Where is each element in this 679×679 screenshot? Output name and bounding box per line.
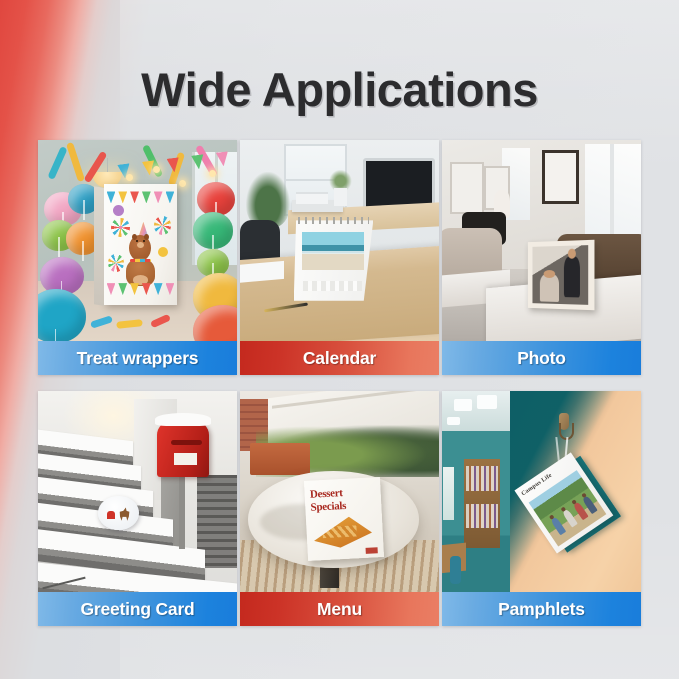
library-window (443, 467, 454, 519)
page-title: Wide Applications (0, 62, 679, 117)
firework-burst (154, 216, 172, 235)
mailbox-pole (179, 476, 185, 549)
terracotta-planter (250, 443, 310, 475)
greeting-card-product (98, 496, 140, 530)
application-tile-greeting-card[interactable]: Greeting Card (38, 391, 237, 626)
tile-photo-snowy-steps (38, 391, 237, 592)
stylist-figure (564, 256, 580, 297)
application-tile-pamphlets[interactable]: Campus Life Pamphlets (442, 391, 641, 626)
student-figure (561, 509, 577, 528)
tile-caption-menu: Menu (240, 592, 439, 626)
scene-party-room (38, 140, 237, 341)
application-tile-menu[interactable]: Dessert Specials Menu (240, 391, 439, 626)
calendar-date-grid (303, 281, 362, 291)
tile-photo-cafe-table: Dessert Specials (240, 391, 439, 592)
bag-dot (113, 205, 124, 216)
bear-muzzle (137, 242, 144, 248)
calendar-beach-photo (302, 232, 364, 271)
vase-icon (334, 188, 348, 206)
ceiling-light (477, 395, 497, 409)
scene-snowy-steps (38, 391, 237, 592)
bag-bunting-top (107, 191, 175, 203)
menu-logo-mark (365, 548, 377, 555)
mailbox-label (174, 453, 197, 465)
salon-window (585, 144, 641, 249)
reindeer-illustration (119, 506, 131, 521)
client-figure (540, 274, 558, 302)
mailbox-slot (171, 440, 202, 445)
scene-office-desk (240, 140, 439, 341)
tile-caption-greeting-card: Greeting Card (38, 592, 237, 626)
teddy-bear-illustration (124, 235, 156, 286)
application-tile-treat-wrappers[interactable]: Treat wrappers (38, 140, 237, 375)
salon-mirror (450, 162, 484, 214)
scene-library-wall: Campus Life (442, 391, 641, 592)
sleigh-illustration (107, 511, 115, 520)
wall-art-frame (542, 150, 580, 204)
gift-bag-product (104, 184, 178, 305)
wall-hook-icon (555, 413, 573, 439)
framed-photo-image (532, 245, 588, 304)
tile-photo-library-wall: Campus Life (442, 391, 641, 592)
menu-product: Dessert Specials (304, 478, 384, 562)
mailbox-body (157, 421, 209, 477)
bookshelf-icon (464, 459, 501, 547)
stacked-papers (296, 192, 328, 204)
student-figure (550, 517, 566, 536)
balloon (197, 182, 235, 216)
tile-caption-photo: Photo (442, 341, 641, 375)
tile-photo-office-desk (240, 140, 439, 341)
red-mailbox-icon (157, 421, 209, 477)
library-ceiling (442, 391, 510, 431)
application-tile-calendar[interactable]: Calendar (240, 140, 439, 375)
desk-calendar-product (294, 220, 374, 300)
scene-hair-salon (442, 140, 641, 341)
menu-title-line2: Specials (310, 499, 377, 513)
application-tile-photo[interactable]: Photo (442, 140, 641, 375)
calendar-spiral-binding (298, 217, 368, 223)
balloon (193, 212, 233, 248)
ceiling-light (447, 417, 459, 425)
firework-burst (108, 254, 124, 272)
bag-bunting-bottom (107, 283, 175, 295)
bag-dot (158, 247, 168, 257)
ceiling-light (454, 399, 472, 411)
photo-frame-product (527, 239, 593, 310)
tile-caption-treat-wrappers: Treat wrappers (38, 341, 237, 375)
tile-photo-salon (442, 140, 641, 341)
paper-sheet (240, 261, 284, 283)
mailbox-snow-cap (155, 413, 211, 425)
library-background (442, 391, 510, 592)
library-chair (450, 556, 461, 584)
string-light (126, 174, 133, 181)
applications-grid: Treat wrappers (38, 140, 640, 626)
tile-caption-calendar: Calendar (240, 341, 439, 375)
bear-eye (143, 240, 145, 242)
tile-photo-party-room (38, 140, 237, 341)
poster-canvas: Wide Applications (0, 0, 679, 679)
scene-cafe-patio: Dessert Specials (240, 391, 439, 592)
bear-collar (130, 259, 151, 263)
gift-bag-side-panel (94, 186, 104, 306)
tile-caption-pamphlets: Pamphlets (442, 592, 641, 626)
apple-pie-photo (310, 513, 374, 550)
